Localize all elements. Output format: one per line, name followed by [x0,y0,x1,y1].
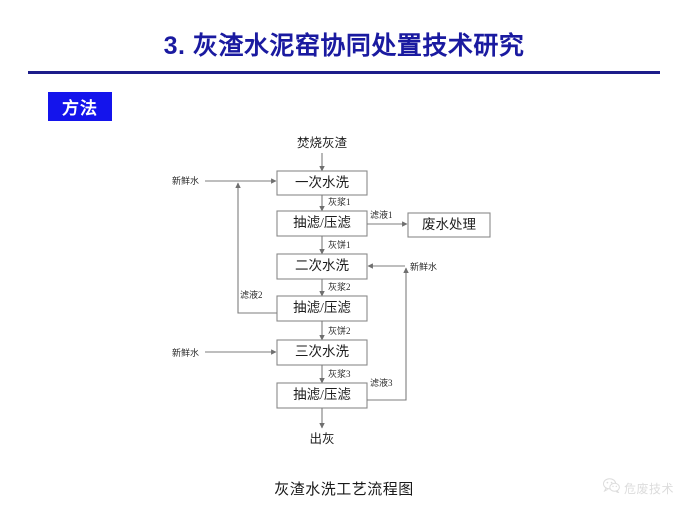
watermark: 危废技术 [603,478,674,498]
node-waste-treatment-label: 废水处理 [422,217,476,232]
edge-label-slurry-2: 灰浆2 [328,281,351,292]
node-filter1-label: 抽滤/压滤 [293,215,351,230]
wechat-icon [603,478,620,498]
node-fresh-water-3-label: 新鲜水 [172,347,199,358]
node-wash2-label: 二次水洗 [295,258,349,273]
node-wash1-label: 一次水洗 [295,175,349,190]
diagram-caption: 灰渣水洗工艺流程图 [0,478,688,499]
node-fresh-water-2-label: 新鲜水 [410,261,437,272]
node-wash3-label: 三次水洗 [295,344,349,359]
process-flow-diagram: 焚烧灰渣 一次水洗 新鲜水 灰浆1 抽滤/压滤 滤液1 废水处理 灰饼1 二次水… [0,0,688,510]
edge-label-cake-2: 灰饼2 [328,325,351,336]
edge-label-slurry-1: 灰浆1 [328,196,351,207]
node-output-label: 出灰 [309,432,334,446]
node-input-label: 焚烧灰渣 [297,136,348,150]
edge-label-cake-1: 灰饼1 [328,239,351,250]
node-fresh-water-1-label: 新鲜水 [172,175,199,186]
edge-label-filtrate-2: 滤液2 [240,289,263,300]
edge-label-slurry-3: 灰浆3 [328,368,351,379]
edge-label-filtrate-3: 滤液3 [370,377,393,388]
node-filter2-label: 抽滤/压滤 [293,300,351,315]
node-filter3-label: 抽滤/压滤 [293,387,351,402]
edge-label-filtrate-1: 滤液1 [370,209,393,220]
watermark-text: 危废技术 [624,480,674,497]
